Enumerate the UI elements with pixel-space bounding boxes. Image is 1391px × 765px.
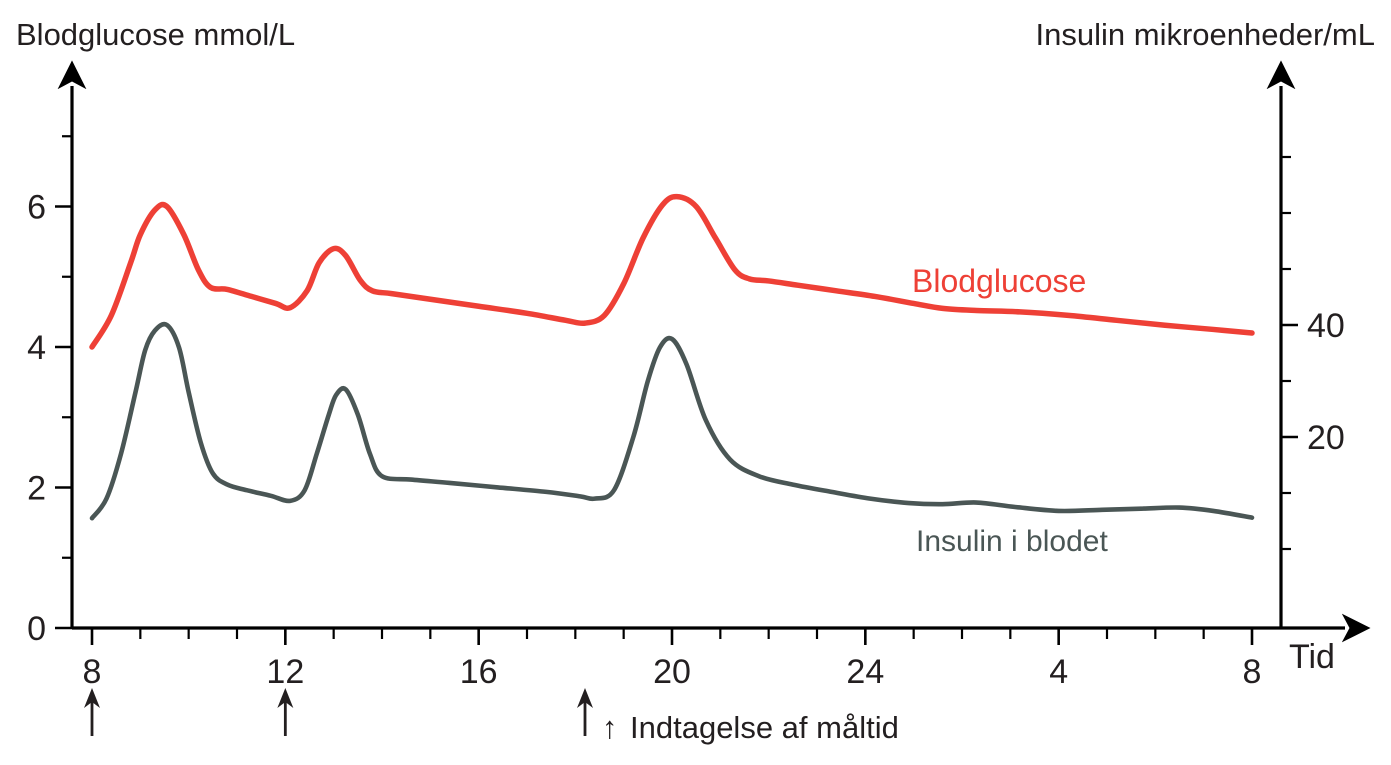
tick-labels-layer: 0246204081216202448 <box>27 189 1345 692</box>
left-y-tick-label: 0 <box>27 610 46 648</box>
right-axis-title: Insulin mikroenheder/mL <box>1036 17 1375 52</box>
meal-arrow-dinner <box>577 688 593 736</box>
left-y-tick-label: 2 <box>27 470 46 508</box>
insulin-glucose-figure: Blodglucose mmol/L Insulin mikroenheder/… <box>0 0 1391 765</box>
x-tick-label: 12 <box>266 653 304 691</box>
meal-arrows-layer <box>84 688 593 736</box>
x-axis-title: Tid <box>1289 638 1335 676</box>
curves-layer <box>92 197 1252 519</box>
x-tick-label: 24 <box>846 653 884 691</box>
curve-insulin <box>92 324 1252 518</box>
meal-caption-text: Indtagelse af måltid <box>630 710 899 745</box>
x-tick-label: 8 <box>1243 653 1262 691</box>
x-tick-label: 20 <box>653 653 691 691</box>
right-y-tick-label: 40 <box>1307 307 1345 345</box>
x-tick-label: 16 <box>460 653 498 691</box>
left-y-tick-label: 6 <box>27 189 46 227</box>
axes-layer <box>72 86 1345 628</box>
left-y-tick-label: 4 <box>27 329 46 367</box>
series-label-insulin: Insulin i blodet <box>916 525 1108 558</box>
chart-canvas: Blodglucose mmol/L Insulin mikroenheder/… <box>0 0 1391 765</box>
meal-caption-arrow-icon: ↑ <box>602 710 618 745</box>
right-y-tick-label: 20 <box>1307 419 1345 457</box>
ticks-layer <box>55 136 1298 645</box>
series-label-blodglucose: Blodglucose <box>912 263 1086 299</box>
x-tick-label: 4 <box>1049 653 1068 691</box>
meal-arrow-lunch <box>277 688 293 736</box>
x-tick-label: 8 <box>83 653 102 691</box>
left-axis-title: Blodglucose mmol/L <box>16 17 295 52</box>
meal-arrow-breakfast <box>84 688 100 736</box>
